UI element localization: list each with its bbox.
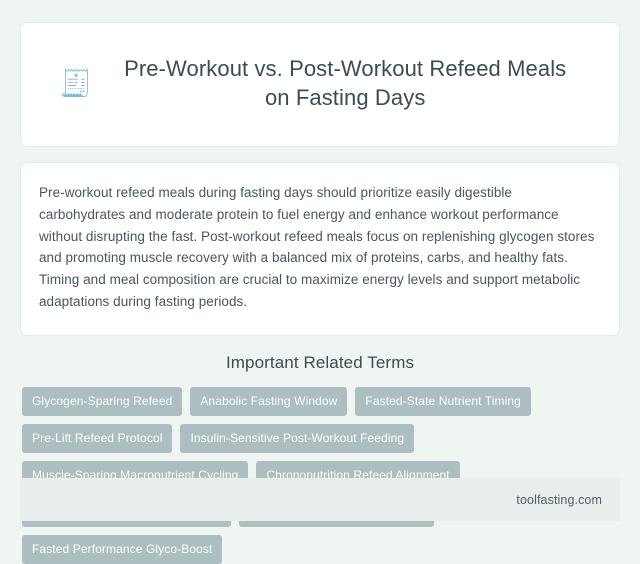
description-card: Pre-workout refeed meals during fasting …: [20, 162, 620, 336]
page-title: Pre-Workout vs. Post-Workout Refeed Meal…: [110, 54, 580, 113]
description-text: Pre-workout refeed meals during fasting …: [39, 182, 601, 313]
page-root: 🧾 Pre-Workout vs. Post-Workout Refeed Me…: [0, 0, 640, 543]
header-card: 🧾 Pre-Workout vs. Post-Workout Refeed Me…: [20, 22, 620, 147]
related-term-tag[interactable]: Pre-Lift Refeed Protocol: [22, 424, 172, 453]
related-term-tag[interactable]: Anabolic Fasting Window: [190, 387, 347, 416]
header-inner: 🧾 Pre-Workout vs. Post-Workout Refeed Me…: [47, 39, 593, 128]
related-terms-tag-list: Glycogen-Sparing RefeedAnabolic Fasting …: [20, 387, 620, 564]
related-term-tag[interactable]: Glycogen-Sparing Refeed: [22, 387, 182, 416]
footer-bar: toolfasting.com: [20, 478, 620, 521]
related-term-tag[interactable]: Insulin-Sensitive Post-Workout Feeding: [180, 424, 414, 453]
related-terms-heading: Important Related Terms: [20, 353, 620, 373]
related-terms-section: Important Related Terms Glycogen-Sparing…: [20, 353, 620, 564]
receipt-icon: 🧾: [60, 70, 92, 96]
footer-site-label: toolfasting.com: [516, 493, 602, 507]
related-term-tag[interactable]: Fasted Performance Glyco-Boost: [22, 535, 222, 564]
related-term-tag[interactable]: Fasted-State Nutrient Timing: [355, 387, 531, 416]
